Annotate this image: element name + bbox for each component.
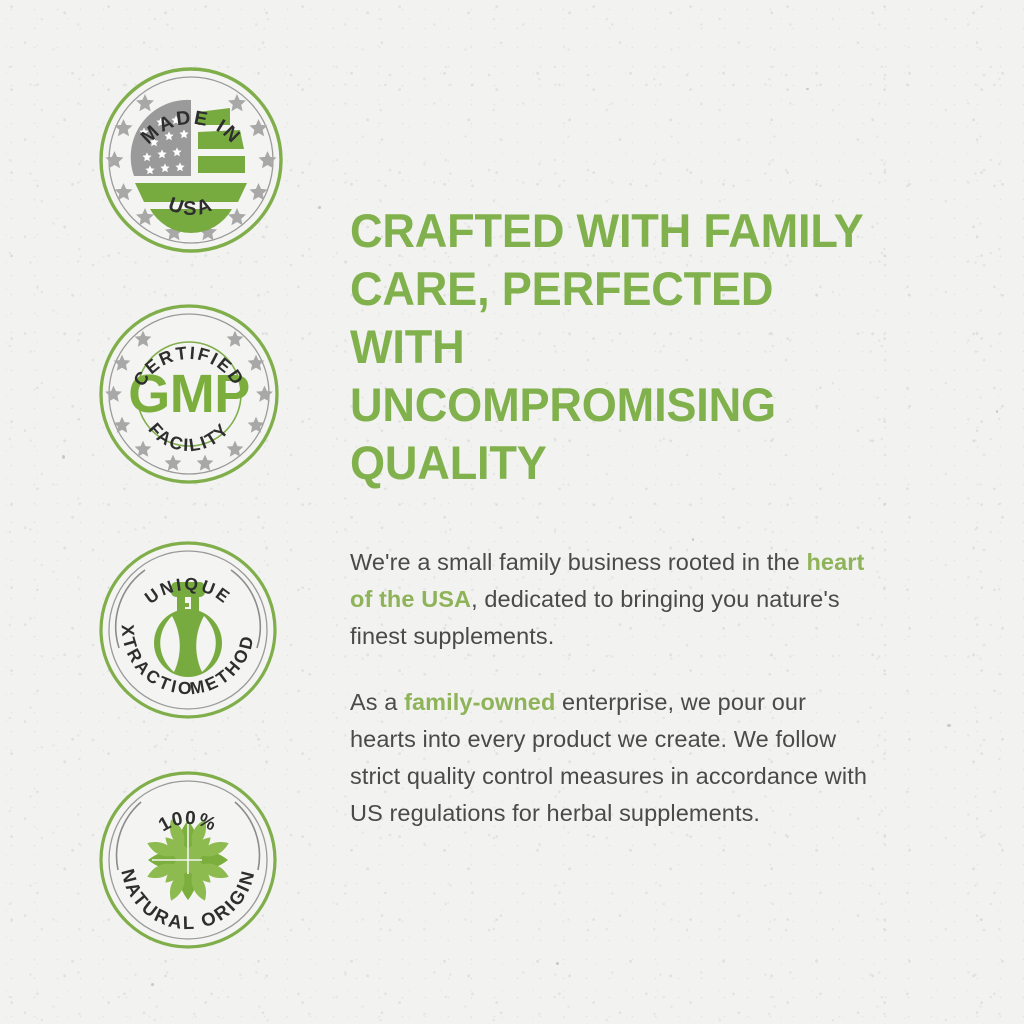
paragraph-1-segment-1: We're a small family business rooted in … bbox=[350, 549, 806, 575]
page-title: CRAFTED WITH FAMILY CARE, PERFECTED WITH… bbox=[350, 202, 888, 492]
trust-badge-column: MADE IN USA bbox=[0, 0, 350, 1024]
leaf-rosette-icon: 100% NATURAL ORIGIN bbox=[98, 770, 278, 950]
paragraph-1: We're a small family business rooted in … bbox=[350, 544, 870, 655]
content-column: CRAFTED WITH FAMILY CARE, PERFECTED WITH… bbox=[350, 0, 1024, 1024]
body-copy: We're a small family business rooted in … bbox=[350, 544, 870, 832]
badge-natural-origin: 100% NATURAL ORIGIN bbox=[98, 770, 278, 950]
usa-flag-badge-icon: MADE IN USA bbox=[98, 66, 284, 254]
paragraph-2-highlight: family-owned bbox=[404, 689, 555, 715]
badge-gmp-certified-facility: GMP CERTIFIED FACILITY bbox=[98, 303, 280, 485]
promo-panel: MADE IN USA bbox=[0, 0, 1024, 1024]
badge-unique-extraction-method: UNIQUE EXTRACTION METHOD bbox=[98, 540, 278, 720]
gmp-seal-icon: GMP CERTIFIED FACILITY bbox=[98, 303, 280, 485]
badge-made-in-usa: MADE IN USA bbox=[98, 66, 284, 254]
flask-leaf-icon: UNIQUE EXTRACTION METHOD bbox=[98, 540, 278, 720]
paragraph-2-segment-1: As a bbox=[350, 689, 404, 715]
paragraph-2: As a family-owned enterprise, we pour ou… bbox=[350, 684, 870, 832]
